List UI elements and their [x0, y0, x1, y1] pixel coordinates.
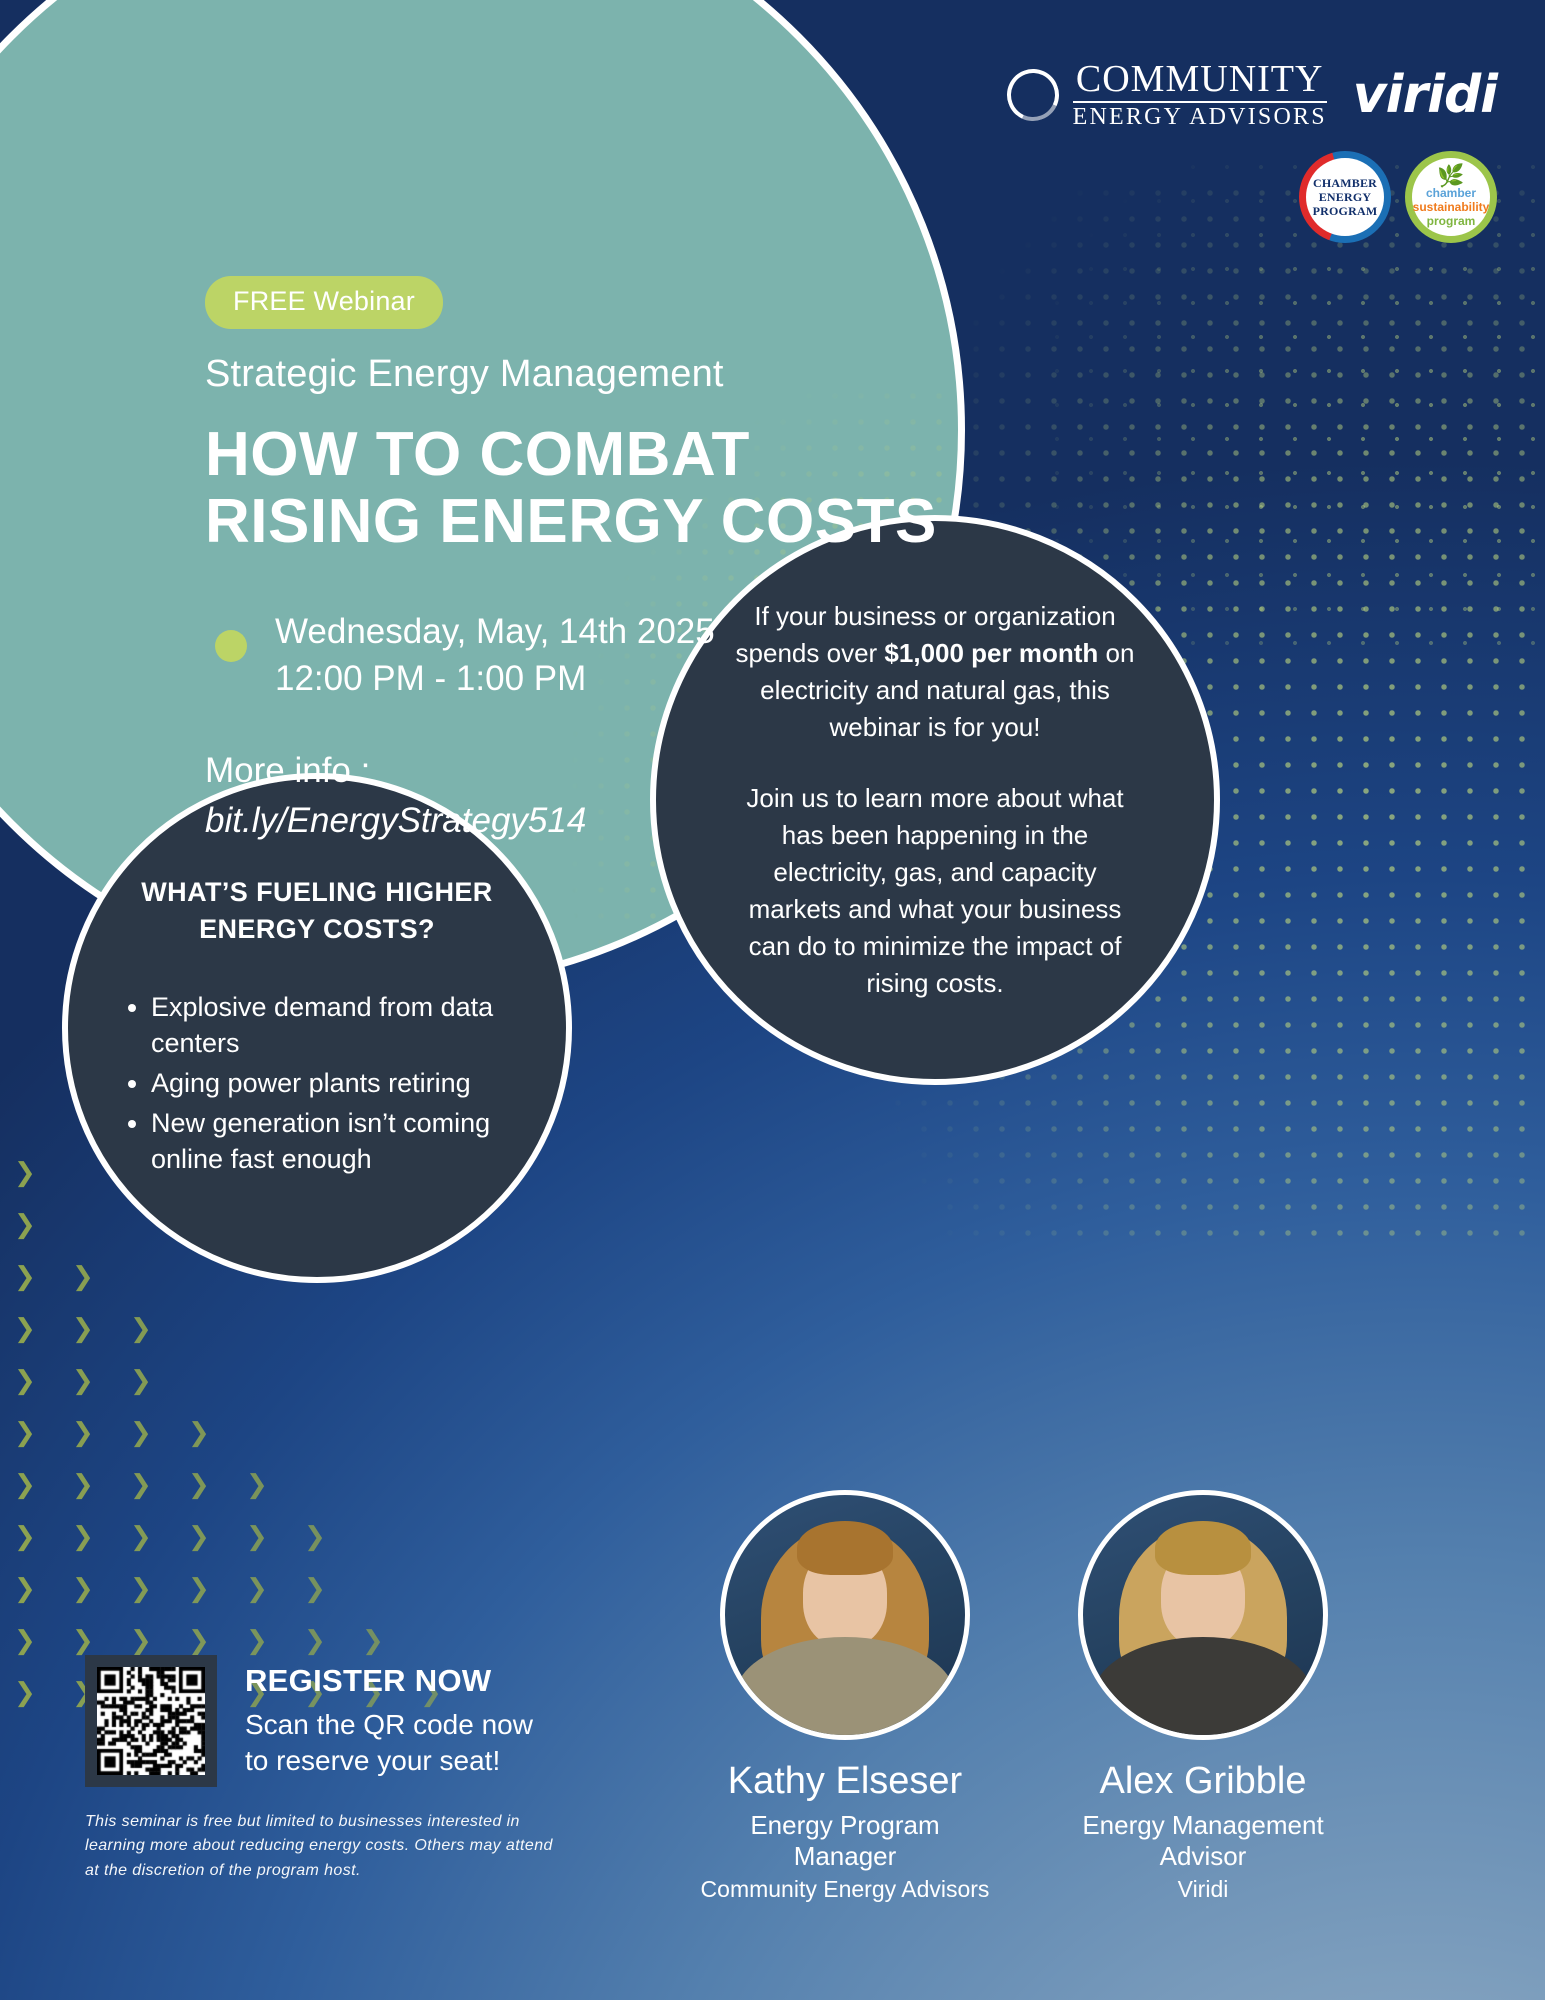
- chevron-icon: ❯: [246, 1472, 268, 1498]
- speaker-name: Kathy Elseser: [700, 1760, 990, 1804]
- avatar-hair-top: [797, 1521, 893, 1575]
- header-content: FREE Webinar Strategic Energy Management…: [205, 276, 1105, 843]
- sustain-line-2: sustainability: [1413, 201, 1490, 215]
- chevron-icon: ❯: [72, 1368, 94, 1394]
- fueling-costs-title: WHAT’S FUELING HIGHER ENERGY COSTS?: [117, 874, 517, 946]
- fueling-costs-content: WHAT’S FUELING HIGHER ENERGY COSTS? Expl…: [117, 874, 517, 1181]
- fueling-costs-circle: WHAT’S FUELING HIGHER ENERGY COSTS? Expl…: [62, 773, 572, 1283]
- chevron-icon: ❯: [304, 1576, 326, 1602]
- chevron-icon: ❯: [188, 1576, 210, 1602]
- cea-name-bottom: ENERGY ADVISORS: [1073, 105, 1327, 129]
- speaker-role: Energy Management Advisor: [1058, 1810, 1348, 1872]
- qr-code-icon[interactable]: [97, 1667, 205, 1775]
- avatar: [720, 1490, 970, 1740]
- chevron-icon: ❯: [14, 1576, 36, 1602]
- program-badges-row: CHAMBERENERGYPROGRAM 🌿 chamber sustainab…: [1007, 151, 1497, 243]
- list-item: New generation isn’t coming online fast …: [151, 1105, 517, 1177]
- chevron-icon: ❯: [14, 1264, 36, 1290]
- chevron-icon: ❯: [72, 1316, 94, 1342]
- chevron-icon: ❯: [188, 1524, 210, 1550]
- chevron-icon: ❯: [246, 1576, 268, 1602]
- register-section: REGISTER NOW Scan the QR code now to res…: [85, 1655, 533, 1787]
- chamber-energy-program-label: CHAMBERENERGYPROGRAM: [1313, 176, 1378, 218]
- circle-ring-icon: [999, 61, 1066, 128]
- logo-group: COMMUNITY ENERGY ADVISORS viridi CHAMBER…: [1007, 60, 1497, 243]
- speakers-section: Kathy ElseserEnergy Program ManagerCommu…: [700, 1490, 1490, 1904]
- chevron-icon: ❯: [362, 1628, 384, 1654]
- chevron-icon: ❯: [14, 1524, 36, 1550]
- list-item: Aging power plants retiring: [151, 1065, 517, 1101]
- cea-wordmark: COMMUNITY ENERGY ADVISORS: [1073, 60, 1327, 129]
- community-energy-advisors-logo: COMMUNITY ENERGY ADVISORS: [1007, 60, 1327, 129]
- chevron-icon: ❯: [130, 1368, 152, 1394]
- register-text: REGISTER NOW Scan the QR code now to res…: [245, 1655, 533, 1780]
- bullet-dot-icon: [215, 630, 247, 662]
- chevron-icon: ❯: [14, 1316, 36, 1342]
- chevron-icon: ❯: [246, 1628, 268, 1654]
- event-date: Wednesday, May, 14th 2025: [275, 608, 715, 655]
- chevron-icon: ❯: [14, 1628, 36, 1654]
- speaker-card: Alex GribbleEnergy Management AdvisorVir…: [1058, 1490, 1348, 1904]
- chevron-icon: ❯: [304, 1628, 326, 1654]
- chevron-icon: ❯: [188, 1420, 210, 1446]
- speaker-org: Viridi: [1058, 1876, 1348, 1904]
- event-datetime: Wednesday, May, 14th 2025 12:00 PM - 1:0…: [205, 608, 1105, 703]
- register-subtitle: Scan the QR code now to reserve your sea…: [245, 1707, 533, 1780]
- more-info-link[interactable]: bit.ly/EnergyStrategy514: [205, 798, 1105, 844]
- webinar-flyer: ❯❯❯❯❯❯❯❯❯❯❯❯❯❯❯❯❯❯❯❯❯❯❯❯❯❯❯❯❯❯❯❯❯❯❯❯❯❯❯❯…: [0, 0, 1545, 2000]
- more-info: More info : bit.ly/EnergyStrategy514: [205, 748, 1105, 843]
- chamber-energy-program-badge: CHAMBERENERGYPROGRAM: [1299, 151, 1391, 243]
- chevron-icon: ❯: [14, 1160, 36, 1186]
- free-webinar-badge: FREE Webinar: [205, 276, 443, 329]
- primary-logo-row: COMMUNITY ENERGY ADVISORS viridi: [1007, 60, 1497, 129]
- viridi-logo: viridi: [1353, 65, 1497, 125]
- register-subtitle-line-1: Scan the QR code now: [245, 1707, 533, 1743]
- cea-divider: [1073, 101, 1327, 103]
- speaker-card: Kathy ElseserEnergy Program ManagerCommu…: [700, 1490, 990, 1904]
- chevron-icon: ❯: [72, 1420, 94, 1446]
- chevron-icon: ❯: [72, 1472, 94, 1498]
- chevron-icon: ❯: [72, 1576, 94, 1602]
- chevron-icon: ❯: [14, 1472, 36, 1498]
- sustainability-badge-content: 🌿 chamber sustainability program: [1413, 165, 1490, 228]
- chevron-icon: ❯: [14, 1680, 36, 1706]
- sustain-line-1: chamber: [1413, 187, 1490, 201]
- headline-line-2: RISING ENERGY COSTS: [205, 489, 1105, 556]
- sustain-line-3: program: [1413, 215, 1490, 229]
- chevron-icon: ❯: [14, 1420, 36, 1446]
- chevron-icon: ❯: [188, 1628, 210, 1654]
- qr-code-frame: [85, 1655, 217, 1787]
- chevron-icon: ❯: [246, 1524, 268, 1550]
- chevron-icon: ❯: [72, 1524, 94, 1550]
- chevron-icon: ❯: [130, 1576, 152, 1602]
- chevron-icon: ❯: [188, 1472, 210, 1498]
- chevron-icon: ❯: [130, 1524, 152, 1550]
- chamber-sustainability-program-badge: 🌿 chamber sustainability program: [1405, 151, 1497, 243]
- chevron-icon: ❯: [14, 1212, 36, 1238]
- chevron-icon: ❯: [72, 1264, 94, 1290]
- chevron-icon: ❯: [130, 1316, 152, 1342]
- chevron-icon: ❯: [130, 1628, 152, 1654]
- cea-name-top: COMMUNITY: [1073, 60, 1327, 98]
- avatar-hair-top: [1155, 1521, 1251, 1575]
- chevron-icon: ❯: [130, 1420, 152, 1446]
- chevron-icon: ❯: [304, 1524, 326, 1550]
- event-datetime-text: Wednesday, May, 14th 2025 12:00 PM - 1:0…: [275, 608, 715, 703]
- speaker-name: Alex Gribble: [1058, 1760, 1348, 1804]
- speaker-role: Energy Program Manager: [700, 1810, 990, 1872]
- disclaimer-text: This seminar is free but limited to busi…: [85, 1810, 565, 1883]
- webinar-subtitle: Strategic Energy Management: [205, 353, 1105, 396]
- register-subtitle-line-2: to reserve your seat!: [245, 1743, 533, 1779]
- more-info-label: More info :: [205, 751, 370, 790]
- headline-line-1: HOW TO COMBAT: [205, 422, 1105, 489]
- speaker-org: Community Energy Advisors: [700, 1876, 990, 1904]
- fueling-costs-list: Explosive demand from data centersAging …: [117, 989, 517, 1178]
- chevron-icon: ❯: [130, 1472, 152, 1498]
- chevron-icon: ❯: [72, 1628, 94, 1654]
- list-item: Explosive demand from data centers: [151, 989, 517, 1061]
- avatar: [1078, 1490, 1328, 1740]
- leaf-icon: 🌿: [1413, 165, 1490, 187]
- page-title: HOW TO COMBAT RISING ENERGY COSTS: [205, 422, 1105, 556]
- register-title: REGISTER NOW: [245, 1663, 533, 1699]
- chevron-icon: ❯: [14, 1368, 36, 1394]
- event-time: 12:00 PM - 1:00 PM: [275, 655, 715, 702]
